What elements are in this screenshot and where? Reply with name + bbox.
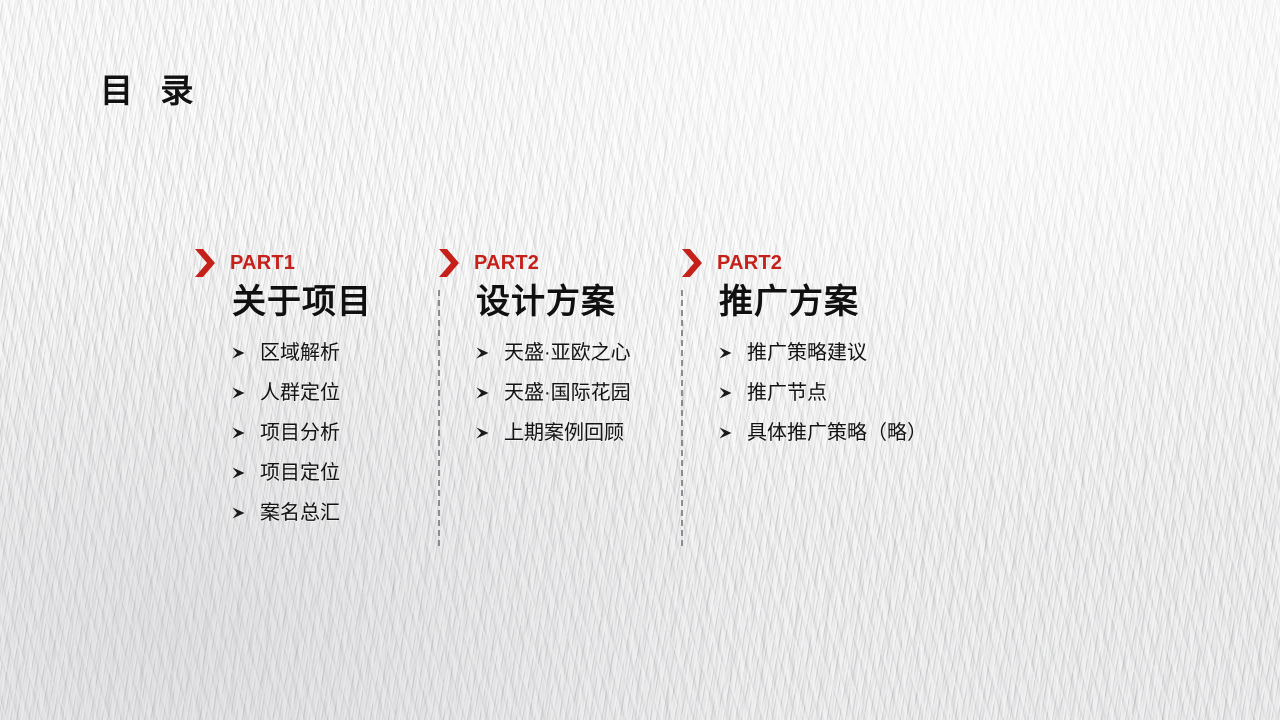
list-item-label: 项目定位 xyxy=(260,463,340,483)
list-item[interactable]: 案名总汇 xyxy=(232,493,438,533)
part-label-2: PART2 xyxy=(474,253,539,273)
column-divider-2 xyxy=(681,290,683,546)
list-item-label: 推广节点 xyxy=(747,383,827,403)
list-item-label: 天盛·亚欧之心 xyxy=(504,343,631,363)
arrow-bullet-icon xyxy=(719,426,733,440)
agenda-column-3: PART2 推广方案 推广策略建议 推广节点 xyxy=(681,248,981,453)
column-heading-3: 推广方案 xyxy=(719,284,981,321)
list-item-label: 推广策略建议 xyxy=(747,343,867,363)
agenda-list-1: 区域解析 人群定位 项目分析 xyxy=(232,333,438,533)
arrow-bullet-icon xyxy=(232,506,246,520)
list-item[interactable]: 推广节点 xyxy=(719,373,981,413)
part-row-2: PART2 xyxy=(438,248,681,278)
chevron-right-icon xyxy=(194,249,218,277)
list-item[interactable]: 具体推广策略（略） xyxy=(719,413,981,453)
list-item[interactable]: 人群定位 xyxy=(232,373,438,413)
agenda-list-3: 推广策略建议 推广节点 具体推广策略（略） xyxy=(719,333,981,453)
arrow-bullet-icon xyxy=(719,386,733,400)
list-item-label: 上期案例回顾 xyxy=(504,423,624,443)
column-heading-1: 关于项目 xyxy=(232,284,438,321)
list-item[interactable]: 推广策略建议 xyxy=(719,333,981,373)
list-item-label: 人群定位 xyxy=(260,383,340,403)
agenda-columns: PART1 关于项目 区域解析 人群定位 xyxy=(194,248,1194,558)
part-label-3: PART2 xyxy=(717,253,782,273)
part-row-3: PART2 xyxy=(681,248,981,278)
arrow-bullet-icon xyxy=(232,426,246,440)
list-item-label: 案名总汇 xyxy=(260,503,340,523)
arrow-bullet-icon xyxy=(476,426,490,440)
slide-canvas: 目 录 PART1 关于项目 区域解析 xyxy=(0,0,1280,720)
part-label-1: PART1 xyxy=(230,253,295,273)
agenda-column-1: PART1 关于项目 区域解析 人群定位 xyxy=(194,248,438,533)
arrow-bullet-icon xyxy=(719,346,733,360)
arrow-bullet-icon xyxy=(232,386,246,400)
list-item-label: 具体推广策略（略） xyxy=(747,423,927,443)
chevron-right-icon xyxy=(681,249,705,277)
agenda-column-2: PART2 设计方案 天盛·亚欧之心 天盛·国际花园 xyxy=(438,248,681,453)
column-heading-2: 设计方案 xyxy=(476,284,681,321)
agenda-list-2: 天盛·亚欧之心 天盛·国际花园 上期案例回顾 xyxy=(476,333,681,453)
chevron-right-icon xyxy=(438,249,462,277)
list-item[interactable]: 上期案例回顾 xyxy=(476,413,681,453)
arrow-bullet-icon xyxy=(232,466,246,480)
arrow-bullet-icon xyxy=(476,346,490,360)
list-item[interactable]: 项目分析 xyxy=(232,413,438,453)
list-item[interactable]: 区域解析 xyxy=(232,333,438,373)
part-row-1: PART1 xyxy=(194,248,438,278)
list-item-label: 区域解析 xyxy=(260,343,340,363)
arrow-bullet-icon xyxy=(476,386,490,400)
list-item[interactable]: 项目定位 xyxy=(232,453,438,493)
list-item[interactable]: 天盛·国际花园 xyxy=(476,373,681,413)
list-item-label: 天盛·国际花园 xyxy=(504,383,631,403)
list-item-label: 项目分析 xyxy=(260,423,340,443)
arrow-bullet-icon xyxy=(232,346,246,360)
list-item[interactable]: 天盛·亚欧之心 xyxy=(476,333,681,373)
column-divider-1 xyxy=(438,290,440,546)
page-title: 目 录 xyxy=(100,74,196,107)
